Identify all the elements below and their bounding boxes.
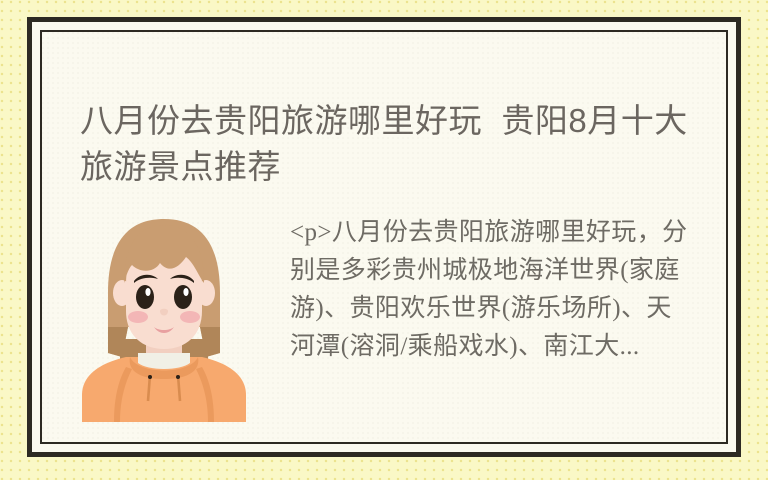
avatar-cheek-left-icon: [128, 311, 148, 323]
avatar-eye-highlight-right-icon: [183, 288, 188, 296]
avatar-eye-highlight-left-icon: [145, 288, 150, 296]
avatar-eye-left-icon: [136, 285, 154, 309]
avatar-eye-right-icon: [174, 285, 192, 309]
article-content-row: <p>八月份去贵阳旅游哪里好玩，分别是多彩贵州城极地海洋世界(家庭游)、贵阳欢乐…: [42, 192, 726, 442]
page-background: 八月份去贵阳旅游哪里好玩 贵阳8月十大旅游景点推荐: [0, 0, 768, 480]
article-card-inner-frame: 八月份去贵阳旅游哪里好玩 贵阳8月十大旅游景点推荐: [40, 30, 728, 444]
avatar-eyelet-right-icon: [176, 375, 180, 379]
person-avatar-illustration: [74, 207, 254, 422]
avatar-eyelet-left-icon: [148, 375, 152, 379]
article-summary: <p>八月份去贵阳旅游哪里好玩，分别是多彩贵州城极地海洋世界(家庭游)、贵阳欢乐…: [290, 214, 690, 366]
avatar-collar-icon: [138, 353, 190, 369]
avatar-svg: [74, 207, 254, 422]
article-card-outer-frame: 八月份去贵阳旅游哪里好玩 贵阳8月十大旅游景点推荐: [27, 17, 741, 457]
avatar-cheek-right-icon: [180, 311, 200, 323]
article-title: 八月份去贵阳旅游哪里好玩 贵阳8月十大旅游景点推荐: [80, 98, 700, 190]
